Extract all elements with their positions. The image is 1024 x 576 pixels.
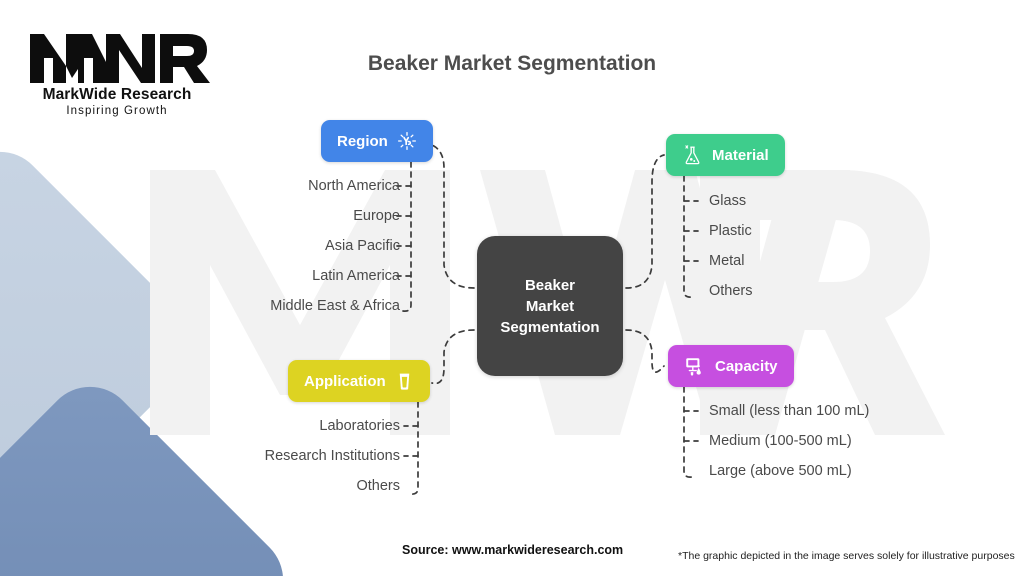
leaf-item: Others (356, 471, 400, 501)
center-node[interactable]: Beaker Market Segmentation (477, 236, 623, 376)
link-center-application (432, 330, 474, 383)
branch-badge-region[interactable]: Region (321, 120, 433, 162)
branch-label-capacity: Capacity (715, 358, 778, 375)
leaf-item: Large (above 500 mL) (709, 456, 852, 486)
leaf-list-region: North America Europe Asia Pacific Latin … (120, 171, 400, 321)
leaf-list-material: Glass Plastic Metal Others (709, 186, 1009, 306)
center-node-line-2: Market (500, 296, 599, 317)
logo-tagline: Inspiring Growth (22, 105, 212, 117)
link-material-trunk (684, 176, 692, 297)
leaf-item: Latin America (312, 261, 400, 291)
leaf-list-application: Laboratories Research Institutions Other… (120, 411, 400, 501)
leaf-list-capacity: Small (less than 100 mL) Medium (100-500… (709, 396, 1019, 486)
logo-company-name: MarkWide Research (22, 86, 212, 104)
branch-label-application: Application (304, 373, 386, 390)
flask-icon (682, 145, 703, 166)
leaf-item: Asia Pacific (325, 231, 400, 261)
leaf-item: Others (709, 276, 753, 306)
link-center-capacity (626, 330, 664, 372)
center-node-line-3: Segmentation (500, 317, 599, 338)
leaf-item: Small (less than 100 mL) (709, 396, 869, 426)
disclaimer-label: *The graphic depicted in the image serve… (678, 550, 1015, 562)
leaf-item: Research Institutions (265, 441, 400, 471)
link-center-material (626, 155, 664, 288)
branch-badge-material[interactable]: Material (666, 134, 785, 176)
leaf-item: Middle East & Africa (270, 291, 400, 321)
leaf-item: Laboratories (319, 411, 400, 441)
page-title: Beaker Market Segmentation (0, 52, 1024, 76)
monitor-flask-icon (684, 356, 706, 377)
link-region-trunk (403, 162, 411, 311)
branch-label-material: Material (712, 147, 769, 164)
leaf-item: Medium (100-500 mL) (709, 426, 852, 456)
branch-badge-capacity[interactable]: Capacity (668, 345, 794, 387)
link-application-trunk (410, 402, 418, 494)
region-icon (397, 131, 417, 151)
leaf-item: Plastic (709, 216, 752, 246)
link-center-region (425, 143, 474, 288)
beaker-cup-icon (395, 371, 414, 392)
branch-label-region: Region (337, 133, 388, 150)
leaf-item: Glass (709, 186, 746, 216)
center-node-line-1: Beaker (500, 275, 599, 296)
leaf-item: North America (308, 171, 400, 201)
branch-badge-application[interactable]: Application (288, 360, 430, 402)
leaf-item: Metal (709, 246, 744, 276)
source-label: Source: www.markwideresearch.com (402, 543, 623, 557)
link-capacity-trunk (684, 387, 692, 477)
leaf-item: Europe (353, 201, 400, 231)
infographic-canvas: MarkWide Research Inspiring Growth Beake… (0, 0, 1024, 576)
